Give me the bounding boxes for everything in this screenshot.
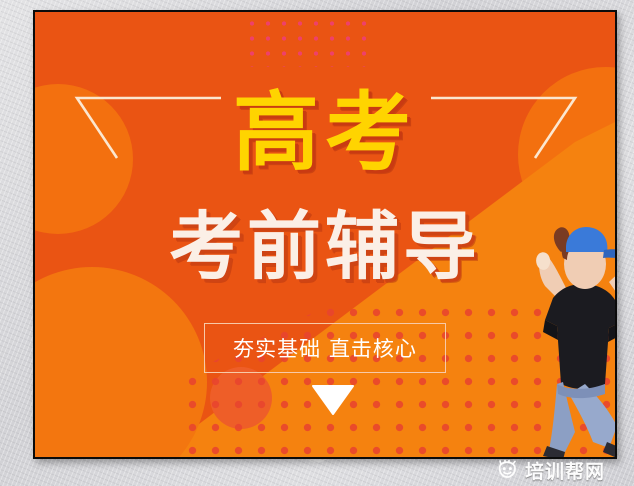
decor-magenta-dot-grid [240,12,370,67]
headline-secondary: 考前辅导 [35,210,615,284]
subtitle-text: 夯实基础 直击核心 [233,333,417,363]
watermark-text: 培训帮网 [525,457,605,484]
headline-primary: 高考 [35,90,615,176]
watermark: 培训帮网 [497,458,605,482]
promo-banner: 高考 考前辅导 夯实基础 直击核心 [33,10,617,459]
page-backdrop: 高考 考前辅导 夯实基础 直击核心 培训帮网 [0,0,634,486]
subtitle-box: 夯实基础 直击核心 [204,323,446,373]
smiling-sun-face-icon [497,460,519,480]
chevron-down-arrow-icon [311,384,355,418]
